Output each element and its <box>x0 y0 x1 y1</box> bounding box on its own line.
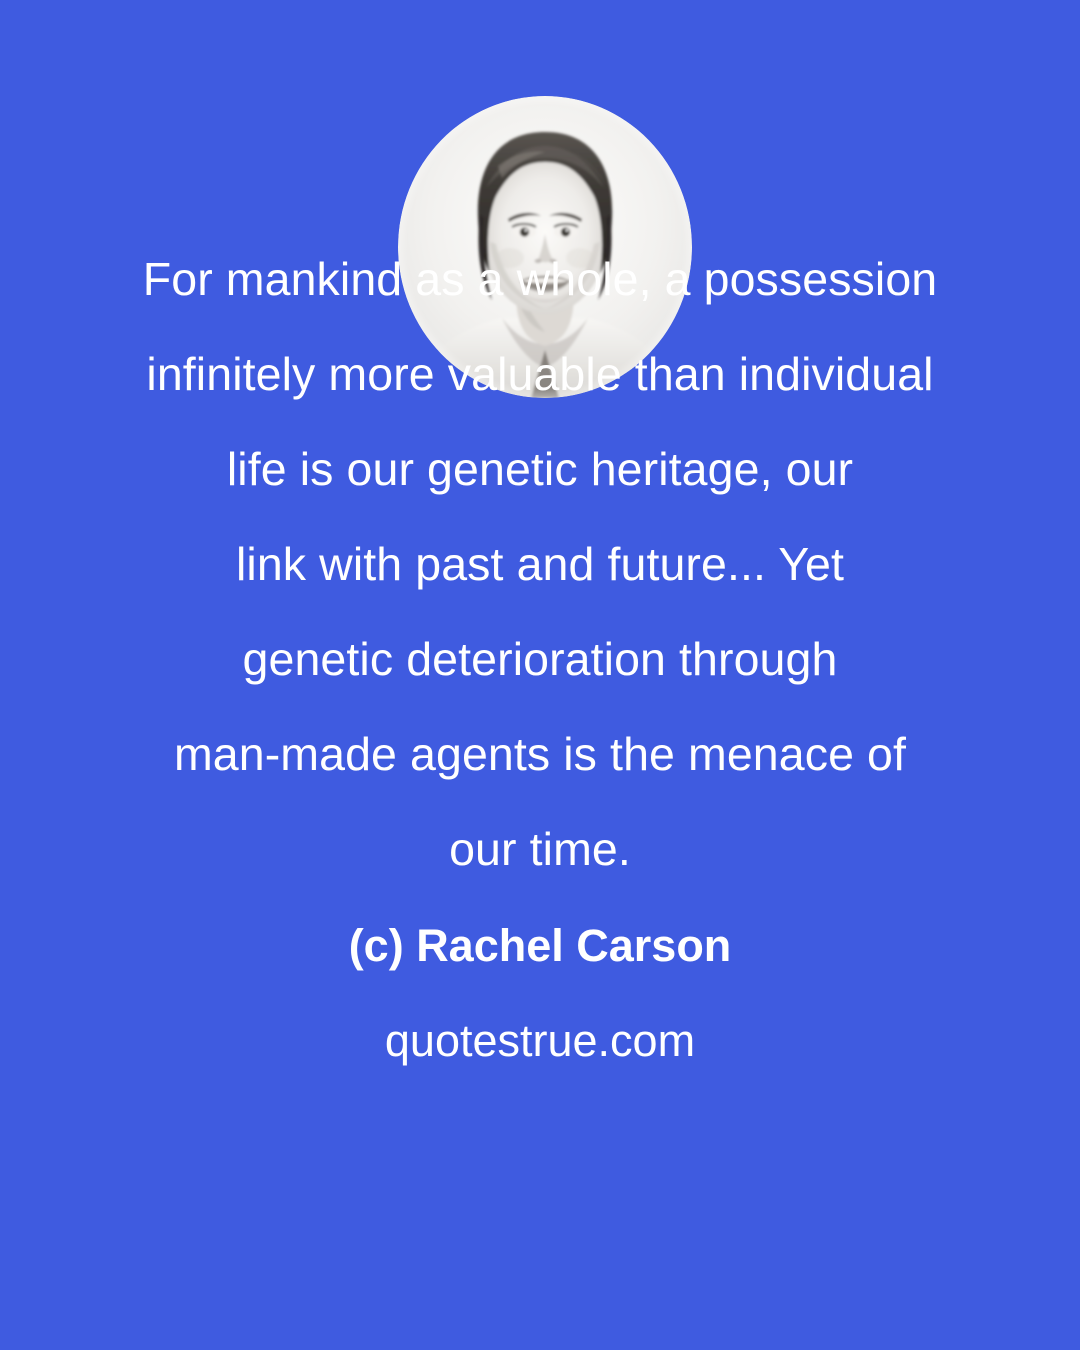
quote-card: For mankind as a whole, a possession inf… <box>0 0 1080 1350</box>
quote-attribution: (c) Rachel Carson <box>60 915 1020 977</box>
quote-content: For mankind as a whole, a possession inf… <box>0 0 1080 1350</box>
quote-body: For mankind as a whole, a possession inf… <box>60 232 1020 897</box>
site-watermark: quotestrue.com <box>60 1010 1020 1072</box>
